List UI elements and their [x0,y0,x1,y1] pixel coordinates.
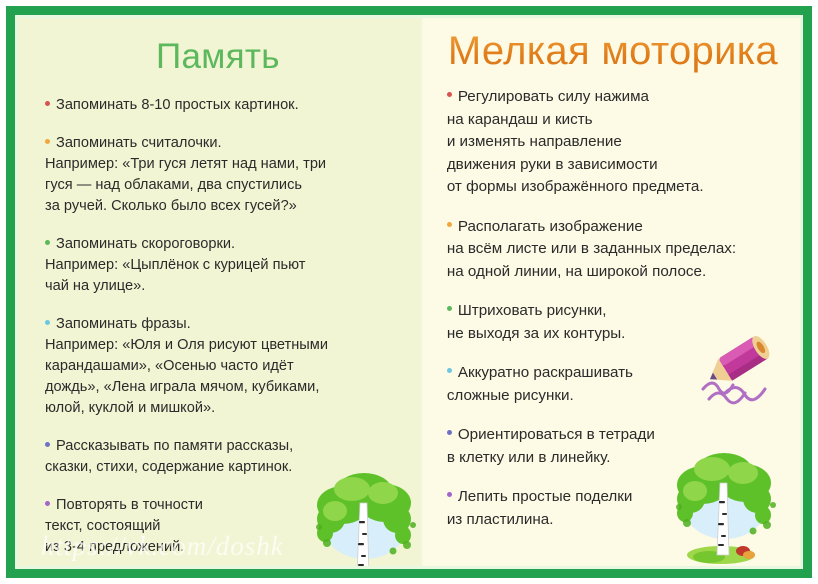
memory-item-line: Например: «Юля и Оля рисуют цветными [45,335,400,356]
poster: Память Запоминать 8-10 простых картинок.… [0,0,818,584]
memory-item-line: чай на улице». [45,276,400,297]
panel-fine-motor-title: Мелкая моторика [423,29,803,74]
poster-frame: Память Запоминать 8-10 простых картинок.… [6,6,812,578]
panel-memory-title: Память [15,37,421,77]
memory-item-line: за ручей. Сколько было всех гусей?» [45,196,400,217]
memory-item-line: карандашами», «Осенью часто идёт [45,356,400,377]
memory-item: Запоминать 8-10 простых картинок. [45,95,400,116]
panel-columns: Память Запоминать 8-10 простых картинок.… [15,15,803,569]
memory-item-line: Например: «Цыплёнок с курицей пьют [45,255,400,276]
memory-item-line: юлой, куклой и мишкой». [45,398,400,419]
memory-item-lead: Запоминать скороговорки. [45,234,400,255]
memory-list: Запоминать 8-10 простых картинок.Запомин… [45,95,400,558]
bullet-dot-icon [447,492,452,497]
memory-item-line: Например: «Три гуся летят над нами, три [45,154,400,175]
panel-fine-motor: Мелкая моторика Регулировать силу нажима… [421,15,803,569]
memory-item-line: дождь», «Лена играла мячом, кубиками, [45,377,400,398]
fine-motor-item-line: на одной линии, на широкой полосе. [447,261,797,284]
bullet-dot-icon [447,222,452,227]
memory-item-lead: Запоминать считалочки. [45,133,400,154]
fine-motor-item: Штриховать рисунки,не выходя за их конту… [447,300,797,345]
bullet-dot-icon [45,139,50,144]
panel-memory: Память Запоминать 8-10 простых картинок.… [15,15,421,569]
memory-item-lead: Запоминать фразы. [45,314,400,335]
fine-motor-item-line: от формы изображённого предмета. [447,176,797,199]
fine-motor-item-line: в клетку или в линейку. [447,447,797,470]
bullet-dot-icon [447,92,452,97]
memory-item-line: гуся — над облаками, два спустились [45,175,400,196]
fine-motor-item-line: сложные рисунки. [447,385,797,408]
fine-motor-item-line: и изменять направление [447,131,797,154]
memory-item: Запоминать фразы.Например: «Юля и Оля ри… [45,314,400,419]
fine-motor-item-line: на всём листе или в заданных пределах: [447,238,797,261]
fine-motor-item-line: движения руки в зависимости [447,154,797,177]
memory-item: Запоминать скороговорки.Например: «Цыплё… [45,234,400,297]
fine-motor-item-lead: Ориентироваться в тетради [447,424,797,447]
fine-motor-item: Располагать изображениена всём листе или… [447,216,797,284]
fine-motor-item: Лепить простые поделкииз пластилина. [447,486,797,531]
fine-motor-item-line: не выходя за их контуры. [447,323,797,346]
bullet-dot-icon [447,430,452,435]
memory-item-lead: Запоминать 8-10 простых картинок. [45,95,400,116]
memory-item: Повторять в точноститекст, состоящийиз 3… [45,495,400,558]
bullet-dot-icon [447,306,452,311]
fine-motor-item-lead: Штриховать рисунки, [447,300,797,323]
memory-item: Рассказывать по памяти рассказы,сказки, … [45,436,400,478]
fine-motor-item-lead: Располагать изображение [447,216,797,239]
bullet-dot-icon [45,320,50,325]
bullet-dot-icon [45,101,50,106]
fine-motor-item: Аккуратно раскрашиватьсложные рисунки. [447,362,797,407]
bullet-dot-icon [45,501,50,506]
memory-item-lead: Повторять в точности [45,495,400,516]
fine-motor-list: Регулировать силу нажимана карандаш и ки… [447,86,797,531]
memory-item-line: текст, состоящий [45,516,400,537]
memory-item-line: сказки, стихи, содержание картинок. [45,457,400,478]
bullet-dot-icon [45,442,50,447]
memory-item-lead: Рассказывать по памяти рассказы, [45,436,400,457]
bullet-dot-icon [45,240,50,245]
fine-motor-item-line: из пластилина. [447,509,797,532]
fine-motor-item: Регулировать силу нажимана карандаш и ки… [447,86,797,199]
bullet-dot-icon [447,368,452,373]
memory-item-line: из 3-4 предложений. [45,537,400,558]
fine-motor-item-line: на карандаш и кисть [447,109,797,132]
fine-motor-item-lead: Аккуратно раскрашивать [447,362,797,385]
fine-motor-item: Ориентироваться в тетрадив клетку или в … [447,424,797,469]
memory-item: Запоминать считалочки.Например: «Три гус… [45,133,400,217]
fine-motor-item-lead: Лепить простые поделки [447,486,797,509]
fine-motor-item-lead: Регулировать силу нажима [447,86,797,109]
